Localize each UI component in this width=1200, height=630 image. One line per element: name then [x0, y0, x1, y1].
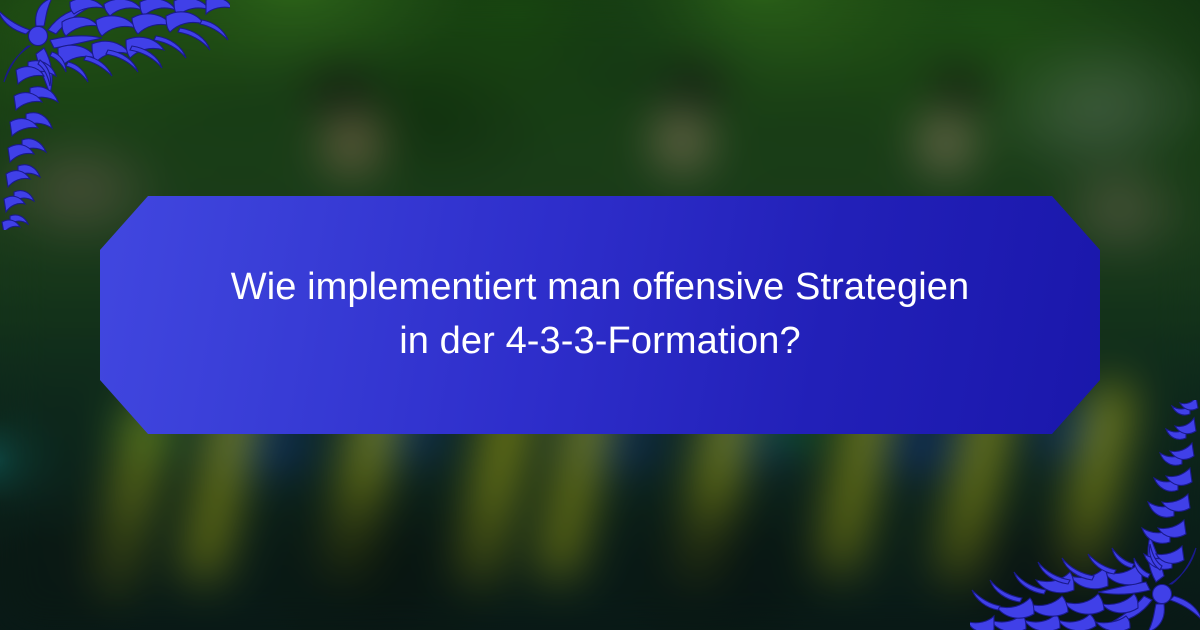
headline-banner: Wie implementiert man offensive Strategi… — [100, 196, 1100, 434]
social-share-card: Wie implementiert man offensive Strategi… — [0, 0, 1200, 630]
page-title: Wie implementiert man offensive Strategi… — [231, 261, 970, 369]
